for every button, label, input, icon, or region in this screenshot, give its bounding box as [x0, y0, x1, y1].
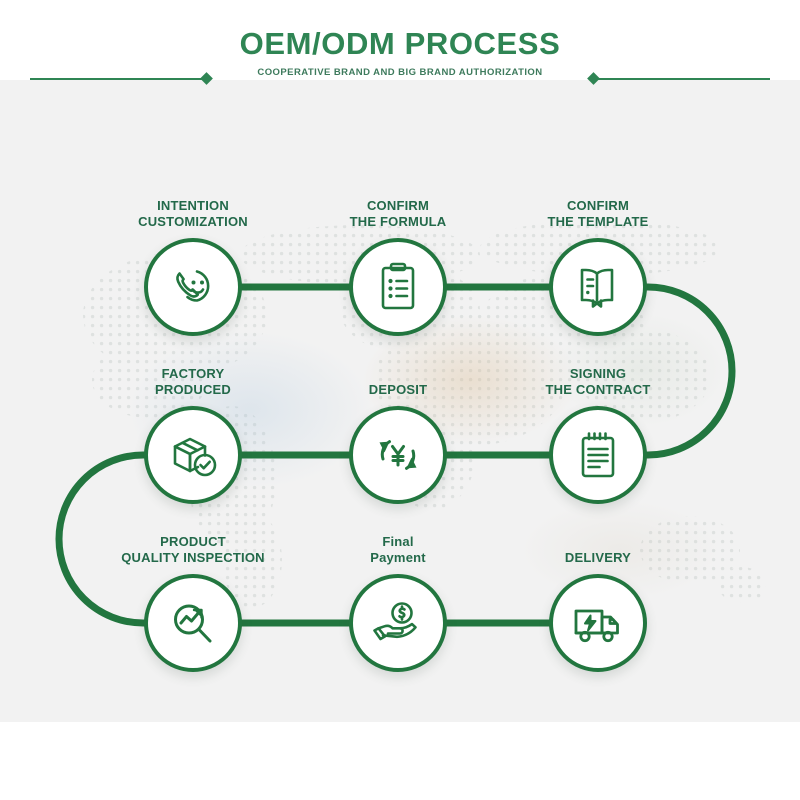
- header: OEM/ODM PROCESS COOPERATIVE BRAND AND BI…: [0, 28, 800, 78]
- process-step-8-bubble[interactable]: [349, 574, 447, 672]
- process-step-1-label: INTENTION CUSTOMIZATION: [83, 198, 303, 229]
- header-rule-right: [592, 78, 770, 80]
- process-step-6-bubble[interactable]: [549, 406, 647, 504]
- delivery-truck-icon: [568, 597, 628, 649]
- yen-refresh-icon: [370, 427, 426, 483]
- process-step-9-bubble[interactable]: [549, 574, 647, 672]
- process-step-5-label: DEPOSIT: [288, 382, 508, 397]
- process-step-4-bubble[interactable]: [144, 406, 242, 504]
- process-step-5-bubble[interactable]: [349, 406, 447, 504]
- hand-coin-icon: [368, 596, 428, 650]
- header-rule-left: [30, 78, 208, 80]
- process-step-2-label: CONFIRM THE FORMULA: [288, 198, 508, 229]
- infographic-root: INTENTION CUSTOMIZATION CONFIRM THE FORM…: [0, 0, 800, 800]
- process-step-4-label: FACTORY PRODUCED: [83, 366, 303, 397]
- process-step-7-label: PRODUCT QUALITY INSPECTION: [83, 534, 303, 565]
- process-step-7-bubble[interactable]: [144, 574, 242, 672]
- notepad-contract-icon: [572, 426, 624, 484]
- clipboard-checklist-icon: [371, 258, 425, 316]
- process-step-3-label: CONFIRM THE TEMPLATE: [488, 198, 708, 229]
- page-subtitle: COOPERATIVE BRAND AND BIG BRAND AUTHORIZ…: [0, 67, 800, 78]
- process-step-2-bubble[interactable]: [349, 238, 447, 336]
- magnifier-growth-icon: [164, 594, 222, 652]
- open-book-icon: [569, 259, 627, 315]
- process-step-6-label: SIGNING THE CONTRACT: [488, 366, 708, 397]
- page-title: OEM/ODM PROCESS: [0, 28, 800, 59]
- process-step-1-bubble[interactable]: [144, 238, 242, 336]
- process-step-8-label: Final Payment: [288, 534, 508, 565]
- process-step-9-label: DELIVERY: [488, 550, 708, 565]
- box-check-icon: [163, 427, 223, 483]
- process-step-3-bubble[interactable]: [549, 238, 647, 336]
- phone-smiley-icon: [164, 258, 222, 316]
- canvas-panel: INTENTION CUSTOMIZATION CONFIRM THE FORM…: [0, 80, 800, 722]
